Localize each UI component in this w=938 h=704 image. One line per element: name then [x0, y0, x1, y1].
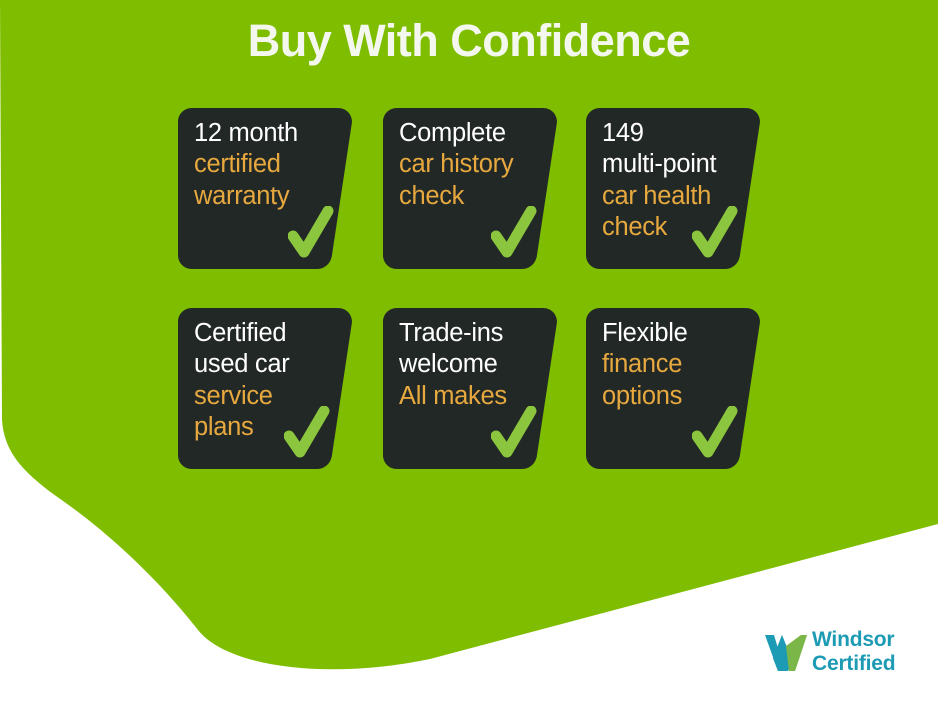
- benefit-card-5[interactable]: Trade-ins welcome All makes: [383, 308, 557, 469]
- benefit-card-grid: 12 month certified warranty Complete car…: [178, 108, 758, 508]
- benefit-card-row-2: Certified used car service plans Trade-i…: [178, 308, 758, 469]
- benefit-card-3[interactable]: 149 multi-point car health check: [586, 108, 760, 269]
- card-line: 149: [602, 118, 754, 149]
- card-line: Flexible: [602, 318, 754, 349]
- benefit-card-text: 12 month certified warranty: [194, 118, 346, 212]
- windsor-w-icon: [762, 628, 808, 674]
- check-icon: [692, 206, 738, 262]
- benefit-card-4[interactable]: Certified used car service plans: [178, 308, 352, 469]
- benefit-card-text: Complete car history check: [399, 118, 551, 212]
- benefit-card-2[interactable]: Complete car history check: [383, 108, 557, 269]
- benefit-card-1[interactable]: 12 month certified warranty: [178, 108, 352, 269]
- card-line: welcome: [399, 349, 551, 380]
- check-icon: [288, 206, 334, 262]
- poster-canvas: Buy With Confidence 12 month certified w…: [0, 0, 938, 704]
- card-line: Complete: [399, 118, 551, 149]
- card-line: multi-point: [602, 149, 754, 180]
- card-line: Certified: [194, 318, 346, 349]
- benefit-card-text: Flexible finance options: [602, 318, 754, 412]
- brand-logo: Windsor Certified: [762, 626, 922, 682]
- card-line: Trade-ins: [399, 318, 551, 349]
- page-title: Buy With Confidence: [0, 16, 938, 66]
- card-line: certified: [194, 149, 346, 180]
- check-icon: [692, 406, 738, 462]
- logo-line-1: Windsor: [812, 628, 895, 652]
- card-line: used car: [194, 349, 346, 380]
- card-line: car history: [399, 149, 551, 180]
- logo-wordmark: Windsor Certified: [812, 628, 895, 675]
- benefit-card-text: Trade-ins welcome All makes: [399, 318, 551, 412]
- check-icon: [491, 206, 537, 262]
- logo-line-2: Certified: [812, 652, 895, 676]
- card-line: finance: [602, 349, 754, 380]
- check-icon: [284, 406, 330, 462]
- benefit-card-row-1: 12 month certified warranty Complete car…: [178, 108, 758, 269]
- card-line: 12 month: [194, 118, 346, 149]
- benefit-card-6[interactable]: Flexible finance options: [586, 308, 760, 469]
- check-icon: [491, 406, 537, 462]
